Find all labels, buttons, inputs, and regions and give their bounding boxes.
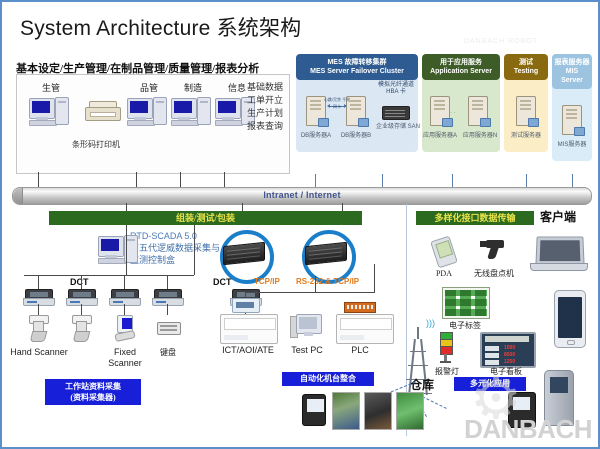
machine-bus-line	[245, 292, 375, 293]
scada-desc: 第五代逻威数据采集与监测控制盒	[130, 242, 222, 266]
hand-scanner-icon	[28, 315, 48, 341]
server-group-mis-server: 报表服务器 MIS Server MIS服务器	[552, 54, 592, 161]
server-group-body: 测试服务器	[504, 80, 548, 152]
heartbeat-note: 心跳/冗余 千兆网卡	[322, 96, 352, 110]
scada-pc-icon	[98, 234, 142, 264]
server-group-testing-server: 测试 Testing 测试服务器	[504, 54, 548, 152]
client-title: 客户端	[540, 208, 576, 225]
network-backbone-pipe: Intranet / Internet	[12, 187, 592, 205]
server-label: MIS服务器	[552, 139, 592, 148]
client-banner: 多样化接口数据传输	[416, 211, 534, 225]
alarm-light-icon	[440, 332, 451, 362]
server-group-title-en: MIS Server	[554, 67, 590, 85]
server-label: DB服务器A	[296, 130, 336, 139]
machine-head-icon	[232, 298, 260, 313]
hba-note: 模拟光纤通道 HBA 卡	[376, 82, 416, 96]
connector-line	[382, 174, 383, 188]
server-group-application-server: 用于应用服务 Application Server 应用服务器A 应用服务器N …	[422, 54, 500, 152]
handheld-terminal-icon	[302, 394, 326, 426]
warehouse-photo	[364, 392, 392, 430]
connector-line	[180, 172, 181, 188]
device-label-electronic-tag: 电子标签	[442, 320, 488, 331]
shopfloor-banner: 组装/测试/包装	[49, 211, 362, 225]
warehouse-photo	[396, 392, 424, 430]
ellipsis: · ·	[450, 110, 456, 116]
server-monitor-icon	[318, 118, 329, 127]
terminal-icon	[109, 289, 139, 304]
server-group-title-cn: MES 故障转移集群	[298, 58, 416, 67]
connector-line	[242, 203, 243, 211]
hand-scanner-icon	[71, 315, 91, 341]
erp-function-list: 基础数据 工单开立 生产计划 报表查询	[247, 81, 283, 133]
pda-icon	[430, 236, 458, 269]
protocol-label-left: TCP/IP	[254, 277, 280, 286]
device-label-hand-scanner: Hand Scanner	[8, 347, 70, 358]
erp-function-item: 报表查询	[247, 120, 283, 133]
connector-line	[342, 203, 343, 211]
server-group-title-cn: 测试	[506, 58, 546, 67]
server-group-title-en: MES Server Failover Cluster	[298, 67, 416, 76]
smartphone-icon	[554, 290, 586, 348]
banner-line-1: 工作站资料采集	[45, 381, 141, 392]
connector-line	[167, 304, 168, 315]
workstation-label: 生管	[23, 81, 79, 94]
wifi-signal-icon: )))	[426, 318, 435, 328]
scada-name: RTD-SCADA 5.0	[130, 230, 222, 242]
server-monitor-icon	[574, 127, 585, 136]
server-label: DB服务器B	[336, 130, 376, 139]
device-label-pda: PDA	[422, 268, 466, 279]
server-label: 测试服务器	[504, 130, 548, 139]
dct-label-right: DCT	[213, 277, 232, 287]
server-monitor-icon	[528, 118, 539, 127]
server-group-title-cn: 用于应用服务	[424, 58, 498, 67]
connector-line	[572, 174, 573, 188]
page-title: System Architecture 系统架构	[20, 12, 301, 42]
connector-line	[194, 225, 195, 275]
device-label-keyboard: 键盘	[154, 347, 182, 358]
automation-integration-banner: 自动化机台整合	[282, 372, 374, 386]
warehouse-label: 仓库	[410, 376, 434, 393]
board-value: 8500	[504, 352, 515, 358]
protocol-label-right: RS-232 & TCP/IP	[296, 277, 359, 286]
wireless-scanner-icon	[480, 240, 504, 260]
banner-line-2: (资料采集器)	[45, 392, 141, 403]
workstation-shengguan: 生管	[23, 81, 79, 126]
slide-canvas: System Architecture 系统架构 DANBACH ROBOT 基…	[0, 0, 600, 449]
board-value: 1000	[504, 345, 515, 351]
server-monitor-icon	[480, 118, 491, 127]
connector-line	[126, 225, 127, 275]
connector-line	[315, 276, 316, 292]
server-monitor-icon	[442, 118, 453, 127]
connector-line	[38, 275, 39, 289]
erp-function-item: 基础数据	[247, 81, 283, 94]
desktop-pc-icon	[29, 96, 73, 126]
device-label-wireless-counter: 无线盘点机	[468, 268, 520, 279]
connector-line	[81, 304, 82, 315]
connector-line	[315, 174, 316, 188]
plc-machine-icon	[336, 314, 394, 344]
test-pc-icon	[290, 314, 320, 338]
barcode-printer-icon	[85, 101, 119, 123]
connector-line	[136, 172, 137, 188]
connector-line	[452, 174, 453, 188]
server-group-mes-failover-cluster: MES 故障转移集群 MES Server Failover Cluster D…	[296, 54, 418, 152]
keyboard-icon	[157, 322, 181, 335]
connector-line	[38, 172, 39, 188]
connector-line	[124, 275, 125, 289]
server-group-body: DB服务器A DB服务器B 心跳/冗余 千兆网卡 模拟光纤通道 HBA 卡 企业…	[296, 80, 418, 152]
server-group-body: MIS服务器	[552, 89, 592, 161]
connector-line	[126, 203, 127, 211]
electronic-board-icon: 1000 8500 1250	[480, 332, 536, 368]
terminal-icon	[23, 289, 53, 304]
server-group-title-cn: 报表服务器	[554, 58, 590, 67]
laptop-icon	[530, 236, 586, 270]
connector-line	[526, 174, 527, 188]
connector-line	[167, 275, 168, 289]
terminal-icon	[152, 289, 182, 304]
erp-function-item: 生产计划	[247, 107, 283, 120]
terminal-icon	[66, 289, 96, 304]
workstation-collection-banner: 工作站资料采集 (资料采集器)	[45, 379, 141, 405]
server-group-title-en: Application Server	[424, 67, 498, 76]
fixed-scanner-icon	[115, 315, 133, 341]
connector-line	[224, 172, 225, 188]
electronic-tag-icon	[442, 287, 488, 317]
erp-function-item: 工单开立	[247, 94, 283, 107]
server-group-body: 应用服务器A 应用服务器N · ·	[422, 80, 500, 152]
connector-line	[374, 264, 375, 292]
server-label: 企业级存储 SAN	[376, 124, 418, 131]
top-watermark: DANBACH ROBOT	[464, 38, 538, 45]
backbone-label: Intranet / Internet	[13, 190, 591, 200]
printer-label: 条形码打印机	[72, 139, 120, 150]
danbach-watermark: DANBACH	[464, 414, 592, 445]
machine-label-plc: PLC	[340, 345, 380, 356]
dct-label-left: DCT	[70, 277, 89, 287]
scada-description: RTD-SCADA 5.0 第五代逻威数据采集与监测控制盒	[130, 230, 222, 266]
server-monitor-icon	[358, 118, 369, 127]
plc-rack-icon	[344, 302, 376, 313]
san-storage-icon	[382, 106, 410, 120]
server-group-title-en: Testing	[506, 67, 546, 76]
machine-label-ict: ICT/AOI/ATE	[210, 345, 286, 356]
erp-box: 生管 条形码打印机 品管 制造 信息	[16, 74, 290, 174]
connector-line	[38, 304, 39, 315]
warehouse-photo	[332, 392, 360, 430]
server-label: 应用服务器A	[420, 130, 460, 139]
dct-bus-line	[24, 275, 194, 276]
connector-line	[124, 304, 125, 315]
connector-line	[81, 275, 82, 289]
ict-machine-icon	[220, 314, 278, 344]
server-label: 应用服务器N	[460, 130, 500, 139]
machine-label-testpc: Test PC	[284, 345, 330, 356]
device-label-fixed-scanner: Fixed Scanner	[96, 347, 154, 369]
